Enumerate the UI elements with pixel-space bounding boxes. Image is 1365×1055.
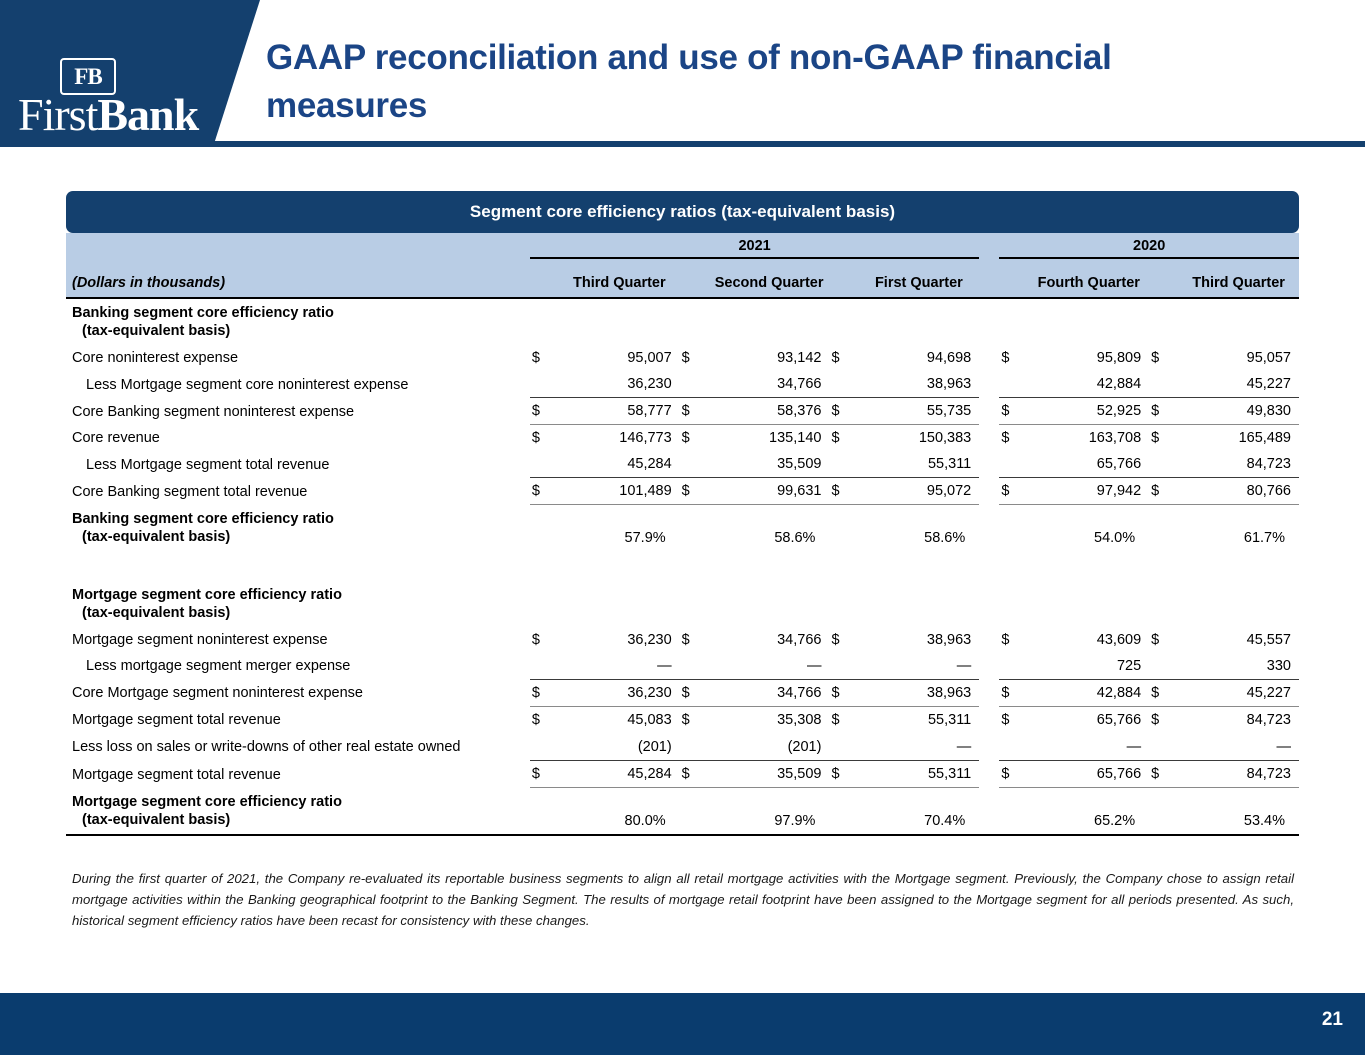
row-label: Mortgage segment total revenue — [66, 706, 530, 733]
ratio-row: Mortgage segment core efficiency ratio(t… — [66, 788, 1299, 835]
row-value: 65,766 — [1028, 761, 1149, 788]
row-value: 45,284 — [559, 761, 680, 788]
table-row: Less mortgage segment merger expense———7… — [66, 653, 1299, 680]
group-gap — [979, 679, 999, 706]
row-value: 99,631 — [709, 478, 830, 505]
dollar-sign: $ — [829, 478, 858, 505]
quarter-header-2020-2: Third Quarter — [1178, 261, 1299, 298]
dollar-sign — [999, 371, 1028, 398]
group-gap — [979, 478, 999, 505]
logo-word-bank: Bank — [97, 89, 198, 140]
ratio-value: 58.6% — [859, 505, 980, 551]
row-value: 165,489 — [1178, 425, 1299, 452]
row-value: 65,766 — [1028, 451, 1149, 478]
quarter-dollar-spacer — [1149, 261, 1178, 298]
row-value: — — [859, 653, 980, 680]
dollar-sign: $ — [680, 478, 709, 505]
section-heading-line2: (tax-equivalent basis) — [72, 604, 530, 622]
units-spacer — [66, 233, 530, 261]
dollar-sign — [530, 653, 559, 680]
page-title: GAAP reconciliation and use of non-GAAP … — [266, 34, 1166, 130]
empty-cell — [709, 581, 830, 627]
section-heading-line1: Banking segment core efficiency ratio — [72, 304, 530, 322]
row-value: 49,830 — [1178, 398, 1299, 425]
dollar-sign — [680, 653, 709, 680]
table-bottom-rule-cell — [66, 835, 1299, 836]
empty-cell — [1028, 581, 1149, 627]
group-gap — [979, 761, 999, 788]
dollar-sign: $ — [999, 679, 1028, 706]
dollar-sign — [1149, 505, 1178, 551]
dollar-sign — [1149, 451, 1178, 478]
row-value: 330 — [1178, 653, 1299, 680]
dollar-sign: $ — [680, 425, 709, 452]
row-value: 34,766 — [709, 371, 830, 398]
dollar-sign: $ — [999, 398, 1028, 425]
ratio-value: 54.0% — [1028, 505, 1149, 551]
ratio-value: 70.4% — [859, 788, 980, 835]
dollar-sign — [680, 505, 709, 551]
table-row: Core Mortgage segment noninterest expens… — [66, 679, 1299, 706]
empty-cell — [1028, 298, 1149, 345]
table-row: Core noninterest expense$95,007$93,142$9… — [66, 345, 1299, 371]
row-label: Less Mortgage segment total revenue — [66, 451, 530, 478]
row-value: 84,723 — [1178, 451, 1299, 478]
group-gap — [979, 653, 999, 680]
row-value: 101,489 — [559, 478, 680, 505]
slide-footer-bar — [0, 993, 1365, 1055]
quarter-header-2021-1: Third Quarter — [559, 261, 680, 298]
dollar-sign: $ — [530, 761, 559, 788]
empty-cell — [999, 298, 1028, 345]
ratio-value: 80.0% — [559, 788, 680, 835]
dollar-sign: $ — [1149, 425, 1178, 452]
row-value: 163,708 — [1028, 425, 1149, 452]
table-row: Less loss on sales or write-downs of oth… — [66, 733, 1299, 761]
dollar-sign: $ — [999, 345, 1028, 371]
dollar-sign: $ — [1149, 679, 1178, 706]
dollar-sign — [829, 451, 858, 478]
row-value: 34,766 — [709, 679, 830, 706]
table-bottom-rule — [66, 835, 1299, 836]
year-underline — [530, 257, 979, 259]
dollar-sign: $ — [999, 761, 1028, 788]
row-label: Less loss on sales or write-downs of oth… — [66, 733, 530, 761]
row-value: 65,766 — [1028, 706, 1149, 733]
dollar-sign: $ — [829, 398, 858, 425]
section-heading-row: Mortgage segment core efficiency ratio(t… — [66, 581, 1299, 627]
dollar-sign — [829, 505, 858, 551]
dollar-sign: $ — [1149, 478, 1178, 505]
dollar-sign — [530, 788, 559, 835]
year-group-2021: 2021 — [530, 233, 979, 261]
ratio-row: Banking segment core efficiency ratio(ta… — [66, 505, 1299, 551]
table-row: Mortgage segment total revenue$45,284$35… — [66, 761, 1299, 788]
dollar-sign: $ — [530, 478, 559, 505]
ratio-label-line2: (tax-equivalent basis) — [72, 528, 530, 546]
row-value: 34,766 — [709, 627, 830, 653]
empty-cell — [829, 298, 858, 345]
row-value: 35,509 — [709, 451, 830, 478]
units-label: (Dollars in thousands) — [66, 261, 530, 298]
row-label: Core Banking segment total revenue — [66, 478, 530, 505]
group-gap — [979, 706, 999, 733]
quarter-header-2021-2: Second Quarter — [709, 261, 830, 298]
row-value: 45,557 — [1178, 627, 1299, 653]
dollar-sign — [1149, 733, 1178, 761]
row-value: 94,698 — [859, 345, 980, 371]
row-value: 35,509 — [709, 761, 830, 788]
dollar-sign — [999, 451, 1028, 478]
row-value: 45,083 — [559, 706, 680, 733]
year-label: 2020 — [999, 238, 1299, 254]
group-gap — [979, 425, 999, 452]
row-value: 38,963 — [859, 679, 980, 706]
group-gap — [979, 398, 999, 425]
table-row: Core Banking segment noninterest expense… — [66, 398, 1299, 425]
row-value: 95,072 — [859, 478, 980, 505]
row-value: 35,308 — [709, 706, 830, 733]
row-value: — — [1178, 733, 1299, 761]
row-value: 52,925 — [1028, 398, 1149, 425]
ratio-label-line2: (tax-equivalent basis) — [72, 811, 530, 829]
dollar-sign: $ — [530, 627, 559, 653]
dollar-sign — [1149, 788, 1178, 835]
dollar-sign: $ — [680, 761, 709, 788]
empty-cell — [1178, 581, 1299, 627]
slide-header: FB FirstBank GAAP reconciliation and use… — [0, 0, 1365, 147]
empty-cell — [979, 298, 999, 345]
row-value: 55,311 — [859, 761, 980, 788]
row-label: Less Mortgage segment core noninterest e… — [66, 371, 530, 398]
dollar-sign: $ — [999, 478, 1028, 505]
group-gap — [979, 233, 999, 261]
dollar-sign — [829, 733, 858, 761]
dollar-sign — [680, 733, 709, 761]
ratio-value: 61.7% — [1178, 505, 1299, 551]
empty-cell — [829, 581, 858, 627]
dollar-sign — [829, 653, 858, 680]
table-row: Less Mortgage segment total revenue45,28… — [66, 451, 1299, 478]
dollar-sign: $ — [999, 425, 1028, 452]
year-underline — [999, 257, 1299, 259]
group-gap — [979, 451, 999, 478]
dollar-sign: $ — [829, 345, 858, 371]
dollar-sign: $ — [680, 706, 709, 733]
empty-cell — [680, 581, 709, 627]
dollar-sign: $ — [1149, 761, 1178, 788]
ratio-label-line1: Mortgage segment core efficiency ratio — [72, 793, 530, 811]
logo-word-first: First — [18, 89, 97, 140]
row-value: 95,809 — [1028, 345, 1149, 371]
dollar-sign: $ — [680, 627, 709, 653]
quarter-dollar-spacer — [829, 261, 858, 298]
row-value: 42,884 — [1028, 371, 1149, 398]
dollar-sign — [999, 653, 1028, 680]
row-value: 36,230 — [559, 371, 680, 398]
dollar-sign: $ — [1149, 627, 1178, 653]
row-value: 55,311 — [859, 451, 980, 478]
row-value: 146,773 — [559, 425, 680, 452]
row-value: 38,963 — [859, 371, 980, 398]
empty-cell — [530, 581, 559, 627]
dollar-sign: $ — [829, 627, 858, 653]
row-value: — — [709, 653, 830, 680]
row-value: — — [1028, 733, 1149, 761]
dollar-sign: $ — [680, 345, 709, 371]
dollar-sign — [680, 451, 709, 478]
group-gap — [979, 371, 999, 398]
dollar-sign: $ — [530, 706, 559, 733]
row-label: Mortgage segment total revenue — [66, 761, 530, 788]
row-value: 84,723 — [1178, 761, 1299, 788]
empty-cell — [530, 298, 559, 345]
dollar-sign: $ — [680, 398, 709, 425]
dollar-sign: $ — [999, 627, 1028, 653]
header-divider — [0, 141, 1365, 147]
quarter-header-2020-1: Fourth Quarter — [1028, 261, 1149, 298]
ratio-value: 97.9% — [709, 788, 830, 835]
empty-cell — [1149, 581, 1178, 627]
row-value: 95,007 — [559, 345, 680, 371]
table-band-title: Segment core efficiency ratios (tax-equi… — [66, 191, 1299, 233]
ratio-value: 65.2% — [1028, 788, 1149, 835]
dollar-sign — [530, 733, 559, 761]
page-number: 21 — [1322, 1009, 1343, 1031]
year-label: 2021 — [530, 238, 979, 254]
spacer-cell — [66, 551, 1299, 581]
ratio-label: Mortgage segment core efficiency ratio(t… — [66, 788, 530, 835]
segment-efficiency-table-container: Segment core efficiency ratios (tax-equi… — [66, 191, 1299, 836]
row-value: 97,942 — [1028, 478, 1149, 505]
year-group-2020: 2020 — [999, 233, 1299, 261]
empty-cell — [680, 298, 709, 345]
group-gap — [979, 505, 999, 551]
dollar-sign — [680, 788, 709, 835]
table-row: Less Mortgage segment core noninterest e… — [66, 371, 1299, 398]
group-gap — [979, 627, 999, 653]
dollar-sign: $ — [530, 425, 559, 452]
row-value: 36,230 — [559, 627, 680, 653]
quarter-header-2021-3: First Quarter — [859, 261, 980, 298]
dollar-sign — [999, 505, 1028, 551]
ratio-label: Banking segment core efficiency ratio(ta… — [66, 505, 530, 551]
section-heading-line1: Mortgage segment core efficiency ratio — [72, 586, 530, 604]
dollar-sign: $ — [829, 425, 858, 452]
section-spacer — [66, 551, 1299, 581]
empty-cell — [709, 298, 830, 345]
row-value: 58,777 — [559, 398, 680, 425]
dollar-sign — [530, 371, 559, 398]
row-value: (201) — [709, 733, 830, 761]
ratio-value: 58.6% — [709, 505, 830, 551]
segment-efficiency-table: 20212020(Dollars in thousands)Third Quar… — [66, 233, 1299, 836]
row-value: 43,609 — [1028, 627, 1149, 653]
dollar-sign — [530, 505, 559, 551]
section-heading: Mortgage segment core efficiency ratio(t… — [66, 581, 530, 627]
dollar-sign — [680, 371, 709, 398]
section-heading: Banking segment core efficiency ratio(ta… — [66, 298, 530, 345]
empty-cell — [859, 581, 980, 627]
dollar-sign: $ — [680, 679, 709, 706]
quarter-dollar-spacer — [530, 261, 559, 298]
row-label: Less mortgage segment merger expense — [66, 653, 530, 680]
empty-cell — [559, 581, 680, 627]
row-value: 725 — [1028, 653, 1149, 680]
row-value: 36,230 — [559, 679, 680, 706]
dollar-sign: $ — [530, 679, 559, 706]
quarter-dollar-spacer — [999, 261, 1028, 298]
quarter-dollar-spacer — [680, 261, 709, 298]
group-gap — [979, 788, 999, 835]
dollar-sign — [999, 733, 1028, 761]
row-value: 45,284 — [559, 451, 680, 478]
row-value: — — [559, 653, 680, 680]
row-value: 55,311 — [859, 706, 980, 733]
firstbank-logo: FB FirstBank — [18, 58, 218, 138]
dollar-sign: $ — [1149, 398, 1178, 425]
table-row: Core Banking segment total revenue$101,4… — [66, 478, 1299, 505]
section-heading-row: Banking segment core efficiency ratio(ta… — [66, 298, 1299, 345]
dollar-sign — [530, 451, 559, 478]
row-value: 93,142 — [709, 345, 830, 371]
row-value: 45,227 — [1178, 371, 1299, 398]
logo-wordmark: FirstBank — [18, 89, 223, 141]
row-value: 42,884 — [1028, 679, 1149, 706]
row-value: 95,057 — [1178, 345, 1299, 371]
group-gap — [979, 733, 999, 761]
empty-cell — [1178, 298, 1299, 345]
dollar-sign — [999, 788, 1028, 835]
row-value: (201) — [559, 733, 680, 761]
row-label: Mortgage segment noninterest expense — [66, 627, 530, 653]
row-value: 38,963 — [859, 627, 980, 653]
dollar-sign — [1149, 371, 1178, 398]
row-value: 80,766 — [1178, 478, 1299, 505]
dollar-sign: $ — [1149, 345, 1178, 371]
dollar-sign: $ — [829, 706, 858, 733]
dollar-sign: $ — [999, 706, 1028, 733]
dollar-sign: $ — [829, 761, 858, 788]
row-value: 84,723 — [1178, 706, 1299, 733]
ratio-value: 53.4% — [1178, 788, 1299, 835]
row-value: 150,383 — [859, 425, 980, 452]
ratio-label-line1: Banking segment core efficiency ratio — [72, 510, 530, 528]
row-value: 55,735 — [859, 398, 980, 425]
dollar-sign — [829, 788, 858, 835]
group-gap — [979, 261, 999, 298]
empty-cell — [1149, 298, 1178, 345]
row-value: 58,376 — [709, 398, 830, 425]
table-row: Core revenue$146,773$135,140$150,383$163… — [66, 425, 1299, 452]
dollar-sign: $ — [530, 345, 559, 371]
dollar-sign — [1149, 653, 1178, 680]
dollar-sign — [829, 371, 858, 398]
empty-cell — [559, 298, 680, 345]
row-value: — — [859, 733, 980, 761]
row-value: 45,227 — [1178, 679, 1299, 706]
section-heading-line2: (tax-equivalent basis) — [72, 322, 530, 340]
group-gap — [979, 345, 999, 371]
row-label: Core Mortgage segment noninterest expens… — [66, 679, 530, 706]
row-value: 135,140 — [709, 425, 830, 452]
dollar-sign: $ — [1149, 706, 1178, 733]
table-row: Mortgage segment noninterest expense$36,… — [66, 627, 1299, 653]
table-footnote: During the first quarter of 2021, the Co… — [72, 868, 1294, 931]
dollar-sign: $ — [530, 398, 559, 425]
empty-cell — [979, 581, 999, 627]
dollar-sign: $ — [829, 679, 858, 706]
table-row: Mortgage segment total revenue$45,083$35… — [66, 706, 1299, 733]
row-label: Core noninterest expense — [66, 345, 530, 371]
empty-cell — [999, 581, 1028, 627]
empty-cell — [859, 298, 980, 345]
ratio-value: 57.9% — [559, 505, 680, 551]
fb-monogram-text: FB — [74, 65, 101, 88]
row-label: Core Banking segment noninterest expense — [66, 398, 530, 425]
row-label: Core revenue — [66, 425, 530, 452]
